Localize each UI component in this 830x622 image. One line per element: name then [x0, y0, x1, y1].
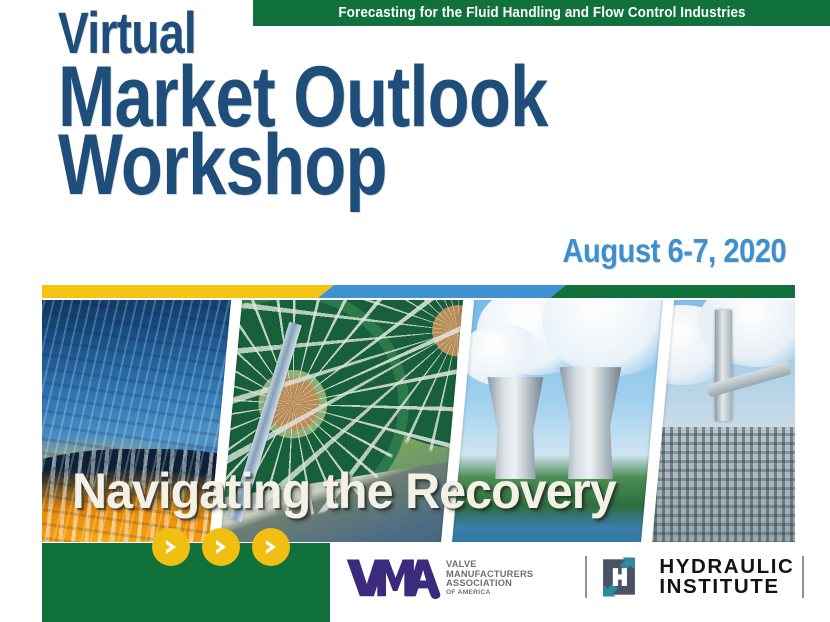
- steam-cloud: [459, 324, 545, 386]
- hydraulic-institute-logo: HYDRAULIC INSTITUTE: [585, 554, 804, 600]
- chevron-right-icon: [202, 528, 240, 566]
- overlay-headline: Navigating the Recovery: [72, 462, 616, 520]
- event-date: August 6-7, 2020: [562, 232, 786, 270]
- logo-row: VALVE MANUFACTURERS ASSOCIATION OF AMERI…: [345, 547, 804, 607]
- chevron-group: [152, 528, 290, 566]
- chevron-right-icon: [252, 528, 290, 566]
- vma-wordmark: VALVE MANUFACTURERS ASSOCIATION OF AMERI…: [446, 558, 533, 597]
- vma-logo: VALVE MANUFACTURERS ASSOCIATION OF AMERI…: [345, 554, 533, 600]
- chevron-right-icon: [152, 528, 190, 566]
- vma-monogram-icon: [345, 554, 441, 600]
- vma-line-3: ASSOCIATION: [446, 579, 533, 589]
- vma-line-4: OF AMERICA: [446, 589, 533, 596]
- logo-divider-left: [585, 556, 587, 598]
- headline-line-workshop: Workshop: [58, 129, 618, 201]
- accent-band-green: [550, 285, 795, 298]
- event-poster: Forecasting for the Fluid Handling and F…: [0, 0, 830, 622]
- accent-band-blue: [318, 285, 566, 298]
- hi-line-1: HYDRAULIC: [659, 557, 794, 578]
- hydraulic-institute-wordmark: HYDRAULIC INSTITUTE: [651, 557, 802, 598]
- refinery-stack: [715, 310, 732, 421]
- accent-band-yellow: [42, 285, 334, 298]
- hi-line-2: INSTITUTE: [659, 577, 794, 598]
- page-title: Virtual Market Outlook Workshop: [58, 10, 758, 201]
- accent-band: [42, 285, 795, 298]
- hydraulic-institute-mark-icon: [596, 554, 642, 600]
- logo-divider-right: [802, 556, 804, 598]
